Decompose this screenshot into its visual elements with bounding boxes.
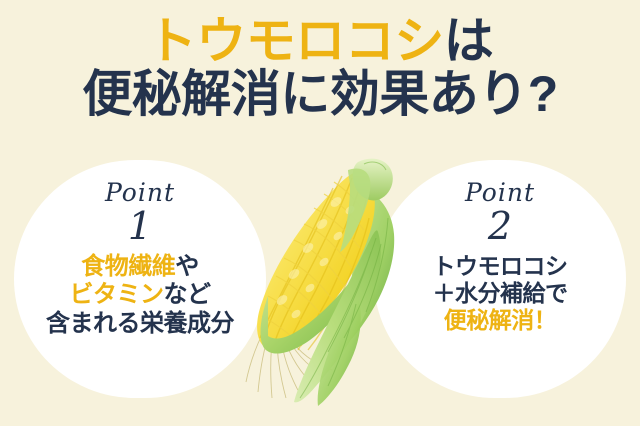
point-1-line-3: 含まれる栄養成分 [14,310,266,338]
point-1-body: 食物繊維や ビタミンなど 含まれる栄養成分 [14,253,266,338]
point-1-line-1: 食物繊維や [14,253,266,281]
title-line-1: トウモロコシは [0,16,640,67]
point-2-line-2-navy: ＋水分補給で [433,280,568,306]
point-1-line-3-navy: 含まれる栄養成分 [46,310,234,337]
point-1-line-1-yellow: 食物繊維 [81,253,175,280]
title-line-1-suffix: は [444,13,494,69]
point-2-line-1-navy: トウモロコシ [433,253,568,279]
point-1-line-2-yellow: ビタミン [70,281,164,308]
point-card-1: Point 1 食物繊維や ビタミンなど 含まれる栄養成分 [14,160,266,398]
point-1-number: 1 [14,207,266,247]
title-highlight-corn: トウモロコシ [147,13,444,69]
title-line-2: 便秘解消に効果あり? [0,69,640,120]
infographic-root: トウモロコシは 便秘解消に効果あり? Point 1 食物繊維や ビタミンなど … [0,0,640,426]
point-1-label: Point [14,180,266,205]
point-2-line-3-yellow: 便秘解消！ [444,307,557,333]
point-1-line-2: ビタミンなど [14,281,266,309]
point-1-line-2-navy: など [164,281,211,308]
corn-cob-icon [238,148,414,410]
point-1-line-1-navy: や [175,253,199,280]
page-title: トウモロコシは 便秘解消に効果あり? [0,16,640,120]
corn-illustration [238,148,414,410]
